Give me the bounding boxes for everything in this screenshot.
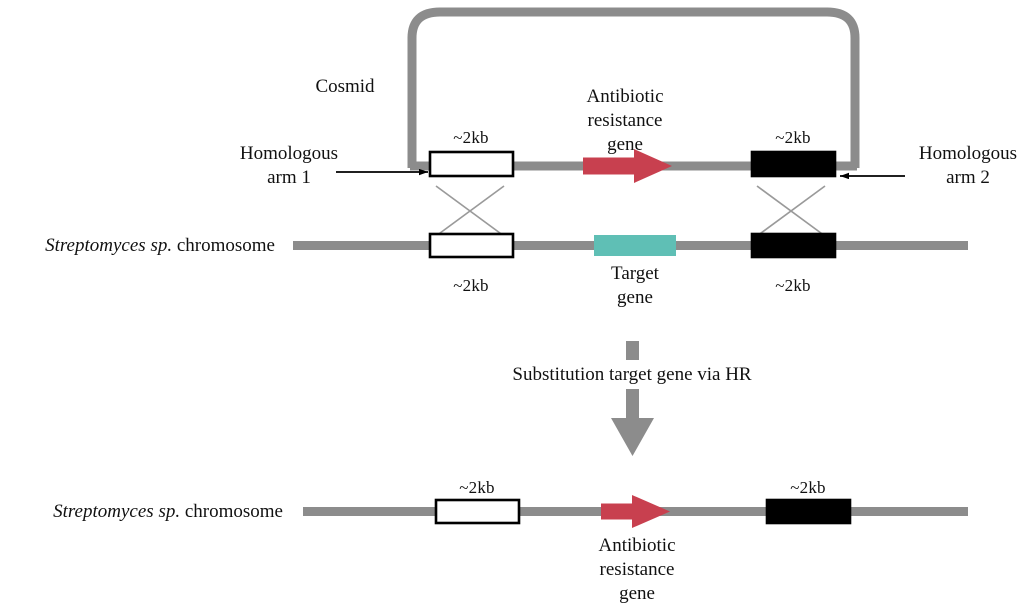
chromosome-after-right-arm-box: [767, 500, 850, 523]
homologous-arm-2-line1: Homologous: [919, 142, 1017, 166]
chromosome-after-resistance-gene-line1: Antibiotic: [598, 534, 675, 558]
crossover-left: [436, 186, 504, 236]
chromosome-before-organism-italic: Streptomyces sp.: [45, 235, 172, 256]
process-arrow-body: [611, 389, 654, 456]
homologous-arm-1-line2: arm 1: [240, 166, 338, 190]
homologous-arm-2-label: Homologous arm 2: [919, 142, 1017, 190]
chromosome-after-organism-italic: Streptomyces sp.: [53, 501, 180, 522]
cosmid-right-arm-box: [752, 152, 835, 176]
chromosome-after-resistance-gene-line3: gene: [598, 582, 675, 606]
chromosome-after-resistance-gene-line2: resistance: [598, 558, 675, 582]
cosmid-resistance-gene-line1: Antibiotic: [586, 85, 663, 109]
homologous-arm-1-label: Homologous arm 1: [240, 142, 338, 190]
chromosome-before-left-arm-size-label: ~2kb: [453, 276, 489, 295]
process-step-label: Substitution target gene via HR: [512, 364, 751, 385]
cosmid-left-arm-size-label: ~2kb: [453, 128, 489, 147]
target-gene-line2: gene: [611, 286, 659, 310]
chromosome-before-left-arm-box: [430, 234, 513, 257]
cosmid-resistance-gene-line2: resistance: [586, 109, 663, 133]
chromosome-after-resistance-gene-label: Antibiotic resistance gene: [598, 534, 675, 605]
chromosome-after-right-arm-size-label: ~2kb: [790, 478, 826, 497]
process-arrow-stub: [626, 341, 639, 360]
chromosome-after-left-arm-size-label: ~2kb: [459, 478, 495, 497]
cosmid-left-arm-box: [430, 152, 513, 176]
target-gene-line1: Target: [611, 262, 659, 286]
chromosome-after-organism-rest: chromosome: [180, 501, 283, 522]
homologous-arm-2-line2: arm 2: [919, 166, 1017, 190]
crossover-right: [757, 186, 825, 236]
target-gene-label: Target gene: [611, 262, 659, 310]
chromosome-target-gene-box: [594, 235, 676, 256]
chromosome-before-right-arm-size-label: ~2kb: [775, 276, 811, 295]
cosmid-right-arm-size-label: ~2kb: [775, 128, 811, 147]
cosmid-resistance-gene-line3: gene: [586, 133, 663, 157]
diagram-svg: [0, 0, 1034, 616]
homologous-arm-1-line1: Homologous: [240, 142, 338, 166]
chromosome-after-organism-label: Streptomyces sp. chromosome: [53, 501, 283, 522]
chromosome-after-resistance-gene-arrow: [601, 495, 670, 528]
diagram-canvas: Cosmid Homologous arm 1 Homologous arm 2…: [0, 0, 1034, 616]
cosmid-resistance-gene-label: Antibiotic resistance gene: [586, 85, 663, 156]
chromosome-after-left-arm-box: [436, 500, 519, 523]
chromosome-before-right-arm-box: [752, 234, 835, 257]
chromosome-before-organism-rest: chromosome: [172, 235, 275, 256]
cosmid-label: Cosmid: [315, 76, 374, 97]
chromosome-before-organism-label: Streptomyces sp. chromosome: [45, 235, 275, 256]
